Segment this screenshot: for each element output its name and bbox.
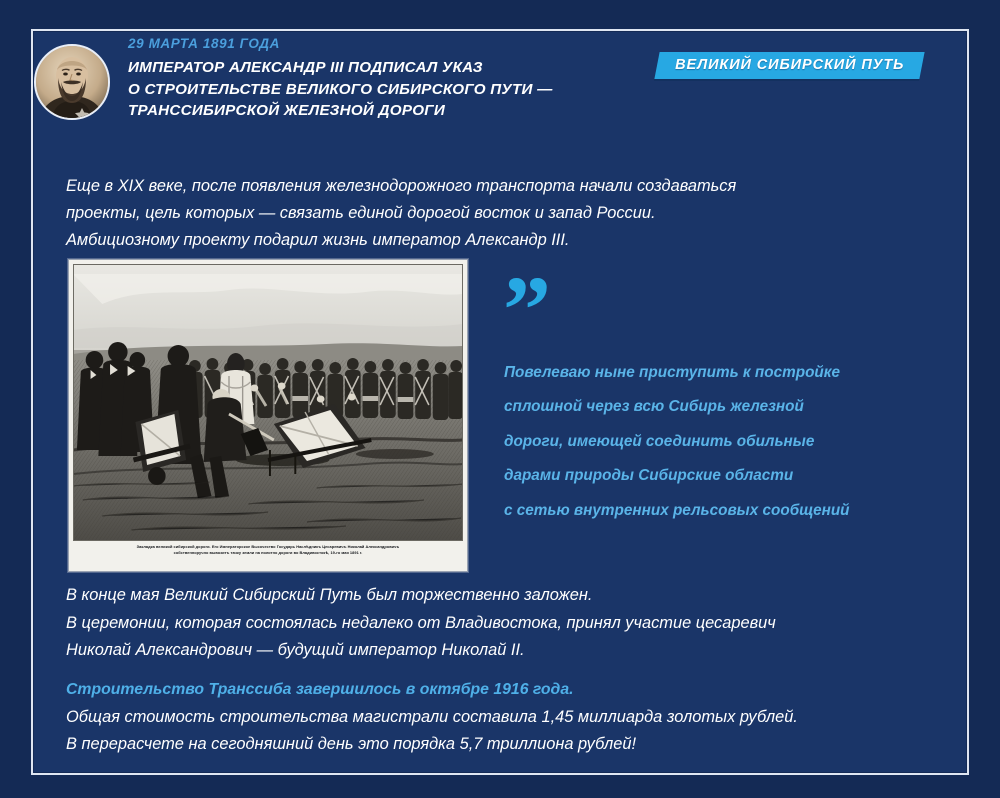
headline-line: О СТРОИТЕЛЬСТВЕ ВЕЛИКОГО СИБИРСКОГО ПУТИ…	[128, 79, 648, 101]
headline-line: ТРАНССИБИРСКОЙ ЖЕЛЕЗНОЙ ДОРОГИ	[128, 100, 648, 122]
closing-line: Николай Александрович — будущий императо…	[66, 637, 956, 665]
poster-header: 29 МАРТА 1891 ГОДА ИМПЕРАТОР АЛЕКСАНДР I…	[34, 22, 960, 142]
header-date: 29 МАРТА 1891 ГОДА	[128, 34, 648, 54]
summary-line: В перерасчете на сегодняшний день это по…	[66, 731, 956, 759]
quote-line: сплошной через всю Сибирь железной	[504, 390, 934, 424]
quote-line: с сетью внутренних рельсовых сообщений	[504, 494, 934, 528]
poster: 29 МАРТА 1891 ГОДА ИМПЕРАТОР АЛЕКСАНДР I…	[0, 0, 1000, 798]
closing-line: В конце мая Великий Сибирский Путь был т…	[66, 582, 956, 610]
quote-line: Повелеваю ныне приступить к постройке	[504, 356, 934, 390]
quote-mark-icon: ”	[503, 278, 554, 344]
intro-paragraph: Еще в XIX веке, после появления железнод…	[66, 173, 946, 254]
summary-paragraph: Строительство Транссиба завершилось в ок…	[66, 676, 956, 759]
emperor-portrait-icon	[36, 46, 108, 118]
intro-line: Амбициозному проекту подарил жизнь импер…	[66, 227, 946, 254]
project-badge: ВЕЛИКИЙ СИБИРСКИЙ ПУТЬ	[654, 52, 924, 79]
closing-paragraph: В конце мая Великий Сибирский Путь был т…	[66, 582, 956, 665]
quote-line: дороги, имеющей соединить обильные	[504, 425, 934, 459]
engraving-artwork	[73, 264, 463, 541]
historical-engraving: Закладка великой сибирской дороги. Его И…	[68, 259, 468, 572]
imperial-decree-quote: Повелеваю ныне приступить к постройке сп…	[504, 356, 934, 528]
header-headline: ИМПЕРАТОР АЛЕКСАНДР III ПОДПИСАЛ УКАЗ О …	[128, 57, 648, 122]
header-text: 29 МАРТА 1891 ГОДА ИМПЕРАТОР АЛЕКСАНДР I…	[128, 34, 648, 122]
engraving-caption-line: собственноручно вывозитъ тачку земли на …	[79, 550, 457, 556]
avatar	[34, 44, 110, 120]
intro-line: проекты, цель которых — связать единой д…	[66, 200, 946, 227]
closing-line: В церемонии, которая состоялась недалеко…	[66, 610, 956, 638]
intro-line: Еще в XIX веке, после появления железнод…	[66, 173, 946, 200]
headline-line: ИМПЕРАТОР АЛЕКСАНДР III ПОДПИСАЛ УКАЗ	[128, 57, 648, 79]
quote-line: дарами природы Сибирские области	[504, 459, 934, 493]
summary-accent-line: Строительство Транссиба завершилось в ок…	[66, 676, 956, 704]
engraving-caption: Закладка великой сибирской дороги. Его И…	[73, 541, 463, 573]
project-badge-label: ВЕЛИКИЙ СИБИРСКИЙ ПУТЬ	[675, 57, 904, 73]
summary-line: Общая стоимость строительства магистрали…	[66, 704, 956, 732]
project-badge-shape: ВЕЛИКИЙ СИБИРСКИЙ ПУТЬ	[654, 52, 924, 79]
railway-groundbreaking-illustration	[73, 264, 463, 541]
